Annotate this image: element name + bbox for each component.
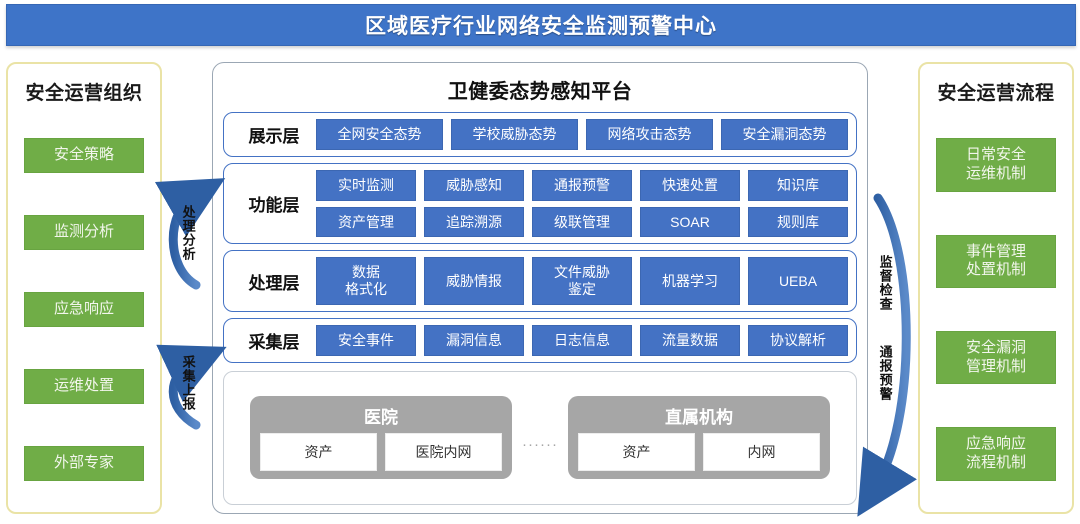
layer-cells-1: 实时监测威胁感知通报预警快速处置知识库资产管理追踪溯源级联管理SOAR规则库 [316,170,848,238]
left-panel-items: 安全策略监测分析应急响应运维处置外部专家 [8,113,160,512]
layer-1-chip-0-4[interactable]: 知识库 [748,170,848,201]
layer-1-chip-0-3-line-0: 快速处置 [662,177,718,194]
process-item-item-0[interactable]: 日常安全运维机制 [936,138,1056,192]
org-item-item-1[interactable]: 监测分析 [24,215,144,250]
layer-2-row-0: 数据格式化威胁情报文件威胁鉴定机器学习UEBA [316,257,848,305]
layer-1-chip-0-1[interactable]: 威胁感知 [424,170,524,201]
org-item-item-2[interactable]: 应急响应 [24,292,144,327]
process-item-item-1-line-1: 处置机制 [939,261,1053,280]
layer-0-row-0: 全网安全态势学校威胁态势网络攻击态势安全漏洞态势 [316,119,848,150]
layer-label-1: 功能层 [232,191,316,216]
org-separator-dots: ······ [522,422,558,453]
layer-1-chip-1-1[interactable]: 追踪溯源 [424,207,524,238]
security-operations-organization-panel: 安全运营组织 安全策略监测分析应急响应运维处置外部专家 [6,62,162,514]
process-item-item-2-line-1: 管理机制 [939,358,1053,377]
layer-1-chip-1-3[interactable]: SOAR [640,207,740,238]
layer-3-row-0: 安全事件漏洞信息日志信息流量数据协议解析 [316,325,848,356]
process-item-item-3[interactable]: 应急响应流程机制 [936,427,1056,481]
layer-2-chip-0-4[interactable]: UEBA [748,257,848,305]
left-panel-title: 安全运营组织 [25,78,142,105]
layer-3-chip-0-0-line-0: 安全事件 [338,332,394,349]
layer-2-chip-0-2[interactable]: 文件威胁鉴定 [532,257,632,305]
layer-box-3: 采集层安全事件漏洞信息日志信息流量数据协议解析 [223,318,857,363]
org-group-1-cell-0[interactable]: 资产 [578,433,695,471]
layer-cells-0: 全网安全态势学校威胁态势网络攻击态势安全漏洞态势 [316,119,848,150]
layer-2-chip-0-1[interactable]: 威胁情报 [424,257,524,305]
org-item-item-1-line-0: 监测分析 [27,223,141,242]
org-group-0: 医院资产医院内网 [250,396,512,479]
security-operations-process-panel: 安全运营流程 日常安全运维机制事件管理处置机制安全漏洞管理机制应急响应流程机制 [918,62,1074,514]
layer-2-chip-0-2-line-0: 文件威胁 [554,264,610,281]
layer-label-0: 展示层 [232,122,316,147]
layer-1-chip-0-2-line-0: 通报预警 [554,177,610,194]
layer-cells-2: 数据格式化威胁情报文件威胁鉴定机器学习UEBA [316,257,848,305]
layer-box-2: 处理层数据格式化威胁情报文件威胁鉴定机器学习UEBA [223,250,857,312]
arrow-label-supervise-check: 监督检查 [878,255,892,311]
platform-title: 卫健委态势感知平台 [223,69,857,112]
process-item-item-2[interactable]: 安全漏洞管理机制 [936,331,1056,385]
layer-3-chip-0-1[interactable]: 漏洞信息 [424,325,524,356]
layer-3-chip-0-2-line-0: 日志信息 [554,332,610,349]
layer-1-chip-1-4-line-0: 规则库 [777,214,819,231]
layer-3-chip-0-4-line-0: 协议解析 [770,332,826,349]
right-panel-title: 安全运营流程 [937,78,1054,105]
layer-1-chip-0-2[interactable]: 通报预警 [532,170,632,201]
layer-2-chip-0-3[interactable]: 机器学习 [640,257,740,305]
layer-3-chip-0-2[interactable]: 日志信息 [532,325,632,356]
layer-1-chip-1-0[interactable]: 资产管理 [316,207,416,238]
layer-1-chip-0-0[interactable]: 实时监测 [316,170,416,201]
layer-1-chip-1-3-line-0: SOAR [670,214,710,231]
layer-2-chip-0-2-line-1: 鉴定 [568,281,596,298]
layer-0-chip-0-0[interactable]: 全网安全态势 [316,119,443,150]
organization-panel: 医院资产医院内网······直属机构资产内网 [223,371,857,505]
layer-1-row-1: 资产管理追踪溯源级联管理SOAR规则库 [316,207,848,238]
process-item-item-2-line-0: 安全漏洞 [939,339,1053,358]
process-item-item-3-line-1: 流程机制 [939,454,1053,473]
arrow-supervise-notify [876,198,906,486]
layer-1-chip-1-2-line-0: 级联管理 [554,214,610,231]
org-group-0-cell-0[interactable]: 资产 [260,433,377,471]
process-item-item-0-line-1: 运维机制 [939,165,1053,184]
layer-box-1: 功能层实时监测威胁感知通报预警快速处置知识库资产管理追踪溯源级联管理SOAR规则… [223,163,857,245]
layer-0-chip-0-1-line-0: 学校威胁态势 [473,126,557,143]
layer-3-chip-0-0[interactable]: 安全事件 [316,325,416,356]
layer-0-chip-0-3[interactable]: 安全漏洞态势 [721,119,848,150]
org-item-item-3-line-0: 运维处置 [27,377,141,396]
org-group-1: 直属机构资产内网 [568,396,830,479]
layer-box-0: 展示层全网安全态势学校威胁态势网络攻击态势安全漏洞态势 [223,112,857,157]
layer-0-chip-0-3-line-0: 安全漏洞态势 [743,126,827,143]
layer-1-chip-1-0-line-0: 资产管理 [338,214,394,231]
org-item-item-0[interactable]: 安全策略 [24,138,144,173]
platform-panel: 卫健委态势感知平台 展示层全网安全态势学校威胁态势网络攻击态势安全漏洞态势功能层… [212,62,868,514]
layer-2-chip-0-0[interactable]: 数据格式化 [316,257,416,305]
layer-2-chip-0-0-line-1: 格式化 [345,281,387,298]
layer-1-chip-0-4-line-0: 知识库 [777,177,819,194]
arrow-label-collect-report: 采集上报 [181,355,195,411]
layer-label-2: 处理层 [232,269,316,294]
layer-2-chip-0-4-line-0: UEBA [779,273,817,290]
layer-cells-3: 安全事件漏洞信息日志信息流量数据协议解析 [316,325,848,356]
layer-0-chip-0-0-line-0: 全网安全态势 [338,126,422,143]
layer-2-chip-0-0-line-0: 数据 [352,264,380,281]
layer-3-chip-0-1-line-0: 漏洞信息 [446,332,502,349]
arrow-label-notify-warning: 通报预警 [878,345,892,401]
layer-3-chip-0-3-line-0: 流量数据 [662,332,718,349]
layer-0-chip-0-1[interactable]: 学校威胁态势 [451,119,578,150]
right-panel-items: 日常安全运维机制事件管理处置机制安全漏洞管理机制应急响应流程机制 [920,113,1072,512]
layer-label-3: 采集层 [232,328,316,353]
org-item-item-3[interactable]: 运维处置 [24,369,144,404]
page-header: 区域医疗行业网络安全监测预警中心 [6,4,1076,46]
layer-stack: 展示层全网安全态势学校威胁态势网络攻击态势安全漏洞态势功能层实时监测威胁感知通报… [223,112,857,363]
layer-1-row-0: 实时监测威胁感知通报预警快速处置知识库 [316,170,848,201]
process-item-item-1-line-0: 事件管理 [939,243,1053,262]
layer-1-chip-0-0-line-0: 实时监测 [338,177,394,194]
org-group-1-cell-1[interactable]: 内网 [703,433,820,471]
org-group-1-title: 直属机构 [578,400,820,433]
org-item-item-0-line-0: 安全策略 [27,146,141,165]
process-item-item-0-line-0: 日常安全 [939,146,1053,165]
layer-0-chip-0-2-line-0: 网络攻击态势 [608,126,692,143]
layer-2-chip-0-1-line-0: 威胁情报 [446,273,502,290]
org-group-1-cells: 资产内网 [578,433,820,471]
org-item-item-4-line-0: 外部专家 [27,454,141,473]
layer-0-chip-0-2[interactable]: 网络攻击态势 [586,119,713,150]
layer-1-chip-1-1-line-0: 追踪溯源 [446,214,502,231]
org-group-0-title: 医院 [260,400,502,433]
layer-1-chip-0-1-line-0: 威胁感知 [446,177,502,194]
org-group-0-cells: 资产医院内网 [260,433,502,471]
org-item-item-4[interactable]: 外部专家 [24,446,144,481]
page-title: 区域医疗行业网络安全监测预警中心 [365,10,717,40]
process-item-item-1[interactable]: 事件管理处置机制 [936,235,1056,289]
arrow-label-process-analysis: 处理分析 [181,205,195,261]
layer-2-chip-0-3-line-0: 机器学习 [662,273,718,290]
layer-3-chip-0-3[interactable]: 流量数据 [640,325,740,356]
org-item-item-2-line-0: 应急响应 [27,300,141,319]
diagram-root: 区域医疗行业网络安全监测预警中心 安全运营组织 安全策略监测分析应急响应运维处置… [0,0,1080,524]
process-item-item-3-line-0: 应急响应 [939,435,1053,454]
layer-1-chip-1-2[interactable]: 级联管理 [532,207,632,238]
layer-1-chip-0-3[interactable]: 快速处置 [640,170,740,201]
layer-3-chip-0-4[interactable]: 协议解析 [748,325,848,356]
org-group-0-cell-1[interactable]: 医院内网 [385,433,502,471]
layer-1-chip-1-4[interactable]: 规则库 [748,207,848,238]
